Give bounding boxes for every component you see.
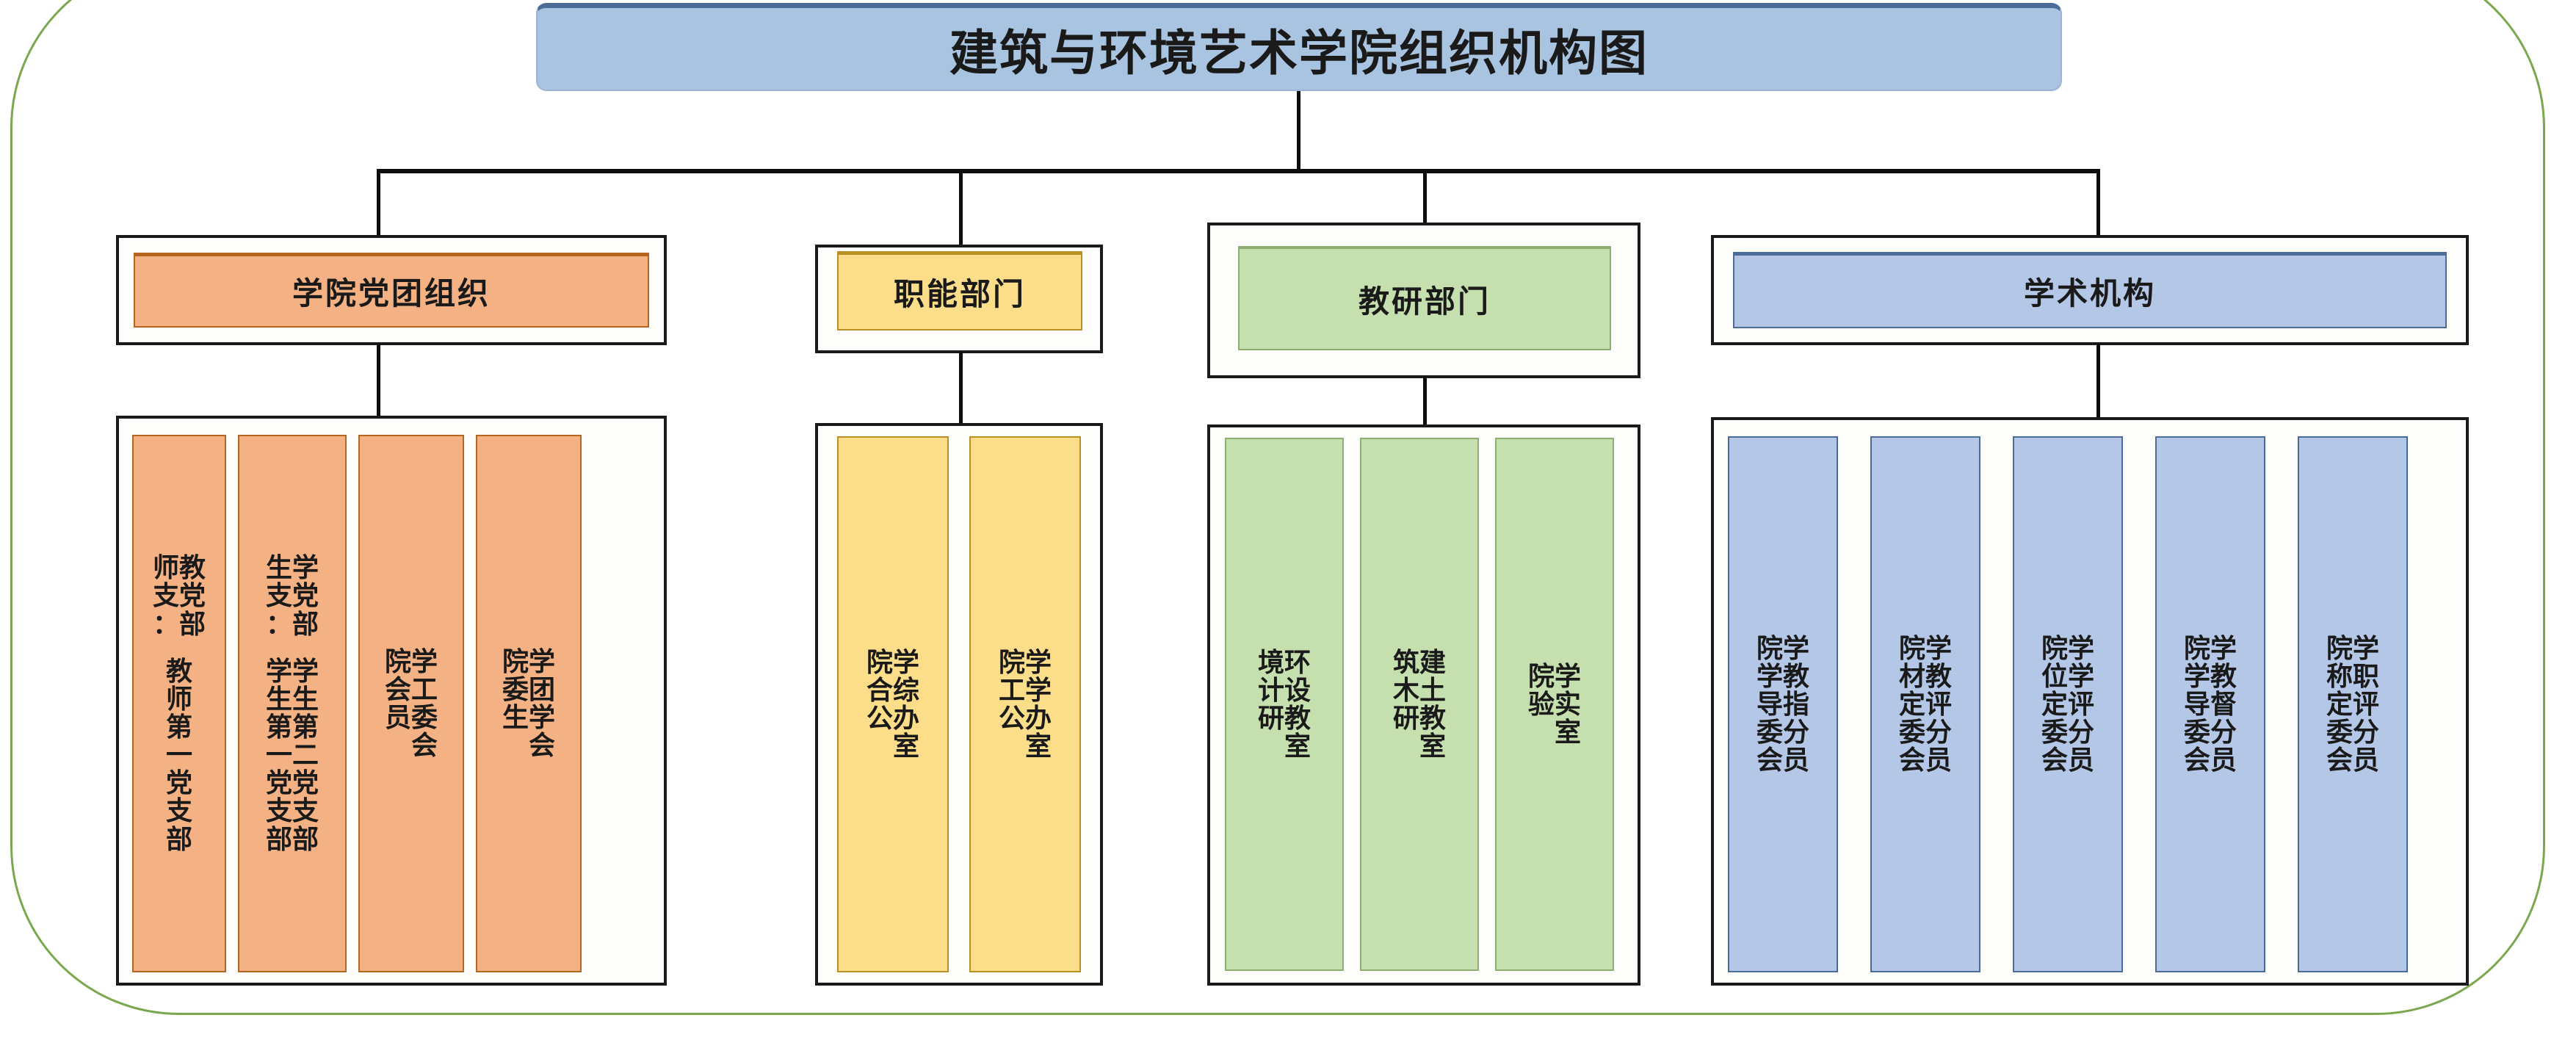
leaf-header-col-left: 生 支 ： [266,554,292,637]
leaf-body-vertical: 学 学 评 分 员 院 位 定 委 会 [2041,635,2094,775]
leaf-student-branch[interactable]: 学 党 部 生 支 ： 学 生 第 二 党 支 [238,435,347,972]
connector-drop-group-0 [377,169,380,236]
connector-group-2-to-children [1423,377,1427,426]
leaf-body-col-right: 学 实 室 [1555,662,1581,746]
leaf-body-vertical: 学 实 室 院 验 [1528,662,1581,746]
leaf-body-col-second: 学 生 第 二 党 支 部 [292,657,319,853]
group-header-label: 教研部门 [1358,277,1491,322]
leaf-body-col-left: 院 学 导 委 会 [2184,635,2210,775]
leaf-body-col-right: 学 教 指 分 员 [1783,635,1809,775]
group-header-teaching-research[interactable]: 教研部门 [1238,246,1611,350]
chart-title-box: 建筑与环境艺术学院组织机构图 [536,3,2062,91]
leaf-body-col-left: 境 计 研 [1258,648,1284,732]
leaf-header-vertical: 学 党 部 生 支 ： [266,554,319,637]
leaf-body-col-left: 院 验 [1528,662,1555,718]
leaf-body-vertical: 学 团 学 会 院 委 生 [502,648,555,760]
leaf-body-col-left: 院 材 定 委 会 [1899,635,1925,775]
leaf-body-col-first: 学 生 第 一 党 支 部 [266,657,292,853]
leaf-degree-review-subcommittee[interactable]: 学 学 评 分 员 院 位 定 委 会 [2013,436,2123,972]
leaf-header-col-left: 师 支 ： [153,554,179,637]
leaf-body-col-right: 学 教 评 分 员 [1925,635,1952,775]
leaf-body-vertical: 环 设 教 室 境 计 研 [1258,648,1311,761]
group-header-functional[interactable]: 职能部门 [837,251,1082,330]
connector-title-drop [1297,91,1300,172]
leaf-body-col-left: 院 位 定 委 会 [2041,635,2068,775]
leaf-body-col-left: 院 学 导 委 会 [1756,635,1783,775]
leaf-body-col-left: 院 会 员 [385,648,411,731]
leaf-body-col-right: 学 团 学 会 [529,648,555,760]
leaf-body-col-right: 学 综 办 室 [893,648,919,761]
page-title: 建筑与环境艺术学院组织机构图 [949,14,1649,84]
leaf-env-design-office[interactable]: 环 设 教 室 境 计 研 [1225,438,1344,971]
leaf-college-laboratory[interactable]: 学 实 室 院 验 [1495,438,1614,971]
leaf-body-vertical: 学 工 委 会 院 会 员 [385,648,438,760]
connector-group-3-to-children [2096,344,2100,419]
leaf-body-vertical: 学 职 评 分 员 院 称 定 委 会 [2326,635,2379,775]
leaf-body-col-left: 院 工 公 [999,648,1025,732]
leaf-body-col-right: 建 土 教 室 [1419,648,1446,761]
leaf-teaching-guidance-subcommittee[interactable]: 学 教 指 分 员 院 学 导 委 会 [1728,436,1838,972]
leaf-title-review-subcommittee[interactable]: 学 职 评 分 员 院 称 定 委 会 [2298,436,2408,972]
leaf-header-col-right: 教 党 部 [179,554,206,637]
leaf-body-col-left: 筑 木 研 [1393,648,1419,732]
leaf-body-col-right: 学 职 评 分 员 [2353,635,2379,775]
leaf-teacher-branch[interactable]: 教 党 部 师 支 ： 教 师 第 一 党 支 [132,435,226,972]
leaf-body-col-right: 学 教 督 分 员 [2210,635,2237,775]
leaf-body-vertical: 教 师 第 一 党 支 部 [166,657,192,853]
group-header-label: 学术机构 [2024,269,2156,314]
leaf-body-col-left: 院 称 定 委 会 [2326,635,2353,775]
leaf-body-vertical: 学 教 指 分 员 院 学 导 委 会 [1756,635,1809,775]
leaf-body-vertical: 学 教 督 分 员 院 学 导 委 会 [2184,635,2237,775]
leaf-body-col-left: 院 合 公 [866,648,893,732]
group-header-label: 职能部门 [894,270,1026,314]
leaf-league-student-union[interactable]: 学 团 学 会 院 委 生 [476,435,582,972]
group-header-academic[interactable]: 学术机构 [1733,252,2447,328]
leaf-body-col-right: 学 学 评 分 员 [2068,635,2094,775]
connector-group-1-to-children [959,352,963,424]
leaf-body-col: 教 师 第 一 党 支 部 [166,657,192,853]
leaf-body-col-left: 院 委 生 [502,648,529,731]
leaf-header-col-right: 学 党 部 [292,554,319,637]
leaf-union-committee[interactable]: 学 工 委 会 院 会 员 [358,435,464,972]
org-chart-canvas: 建筑与环境艺术学院组织机构图 学院党团组织 教 党 部 师 支 ： [0,0,2576,1037]
leaf-body-vertical: 学 生 第 二 党 支 部 学 生 第 一 党 支 部 [266,657,319,853]
leaf-body-col-right: 学 学 办 室 [1025,648,1052,761]
connector-drop-group-1 [959,169,963,246]
leaf-body-col-right: 学 工 委 会 [411,648,438,760]
leaf-general-office[interactable]: 学 综 办 室 院 合 公 [837,436,949,972]
leaf-body-vertical: 建 土 教 室 筑 木 研 [1393,648,1446,761]
group-header-label: 学院党团组织 [292,269,491,314]
connector-drop-group-3 [2096,169,2100,237]
leaf-body-vertical: 学 学 办 室 院 工 公 [999,648,1052,761]
leaf-body-vertical: 学 教 评 分 员 院 材 定 委 会 [1899,635,1952,775]
leaf-textbook-review-subcommittee[interactable]: 学 教 评 分 员 院 材 定 委 会 [1870,436,1980,972]
leaf-arch-civil-office[interactable]: 建 土 教 室 筑 木 研 [1360,438,1479,971]
leaf-header-vertical: 教 党 部 师 支 ： [153,554,206,637]
leaf-teaching-supervision-subcommittee[interactable]: 学 教 督 分 员 院 学 导 委 会 [2155,436,2265,972]
connector-horizontal-bus [377,169,2099,173]
leaf-student-affairs-office[interactable]: 学 学 办 室 院 工 公 [969,436,1081,972]
group-header-party-league[interactable]: 学院党团组织 [134,253,649,328]
leaf-body-vertical: 学 综 办 室 院 合 公 [866,648,919,761]
connector-group-0-to-children [377,344,380,417]
leaf-body-col-right: 环 设 教 室 [1284,648,1311,761]
